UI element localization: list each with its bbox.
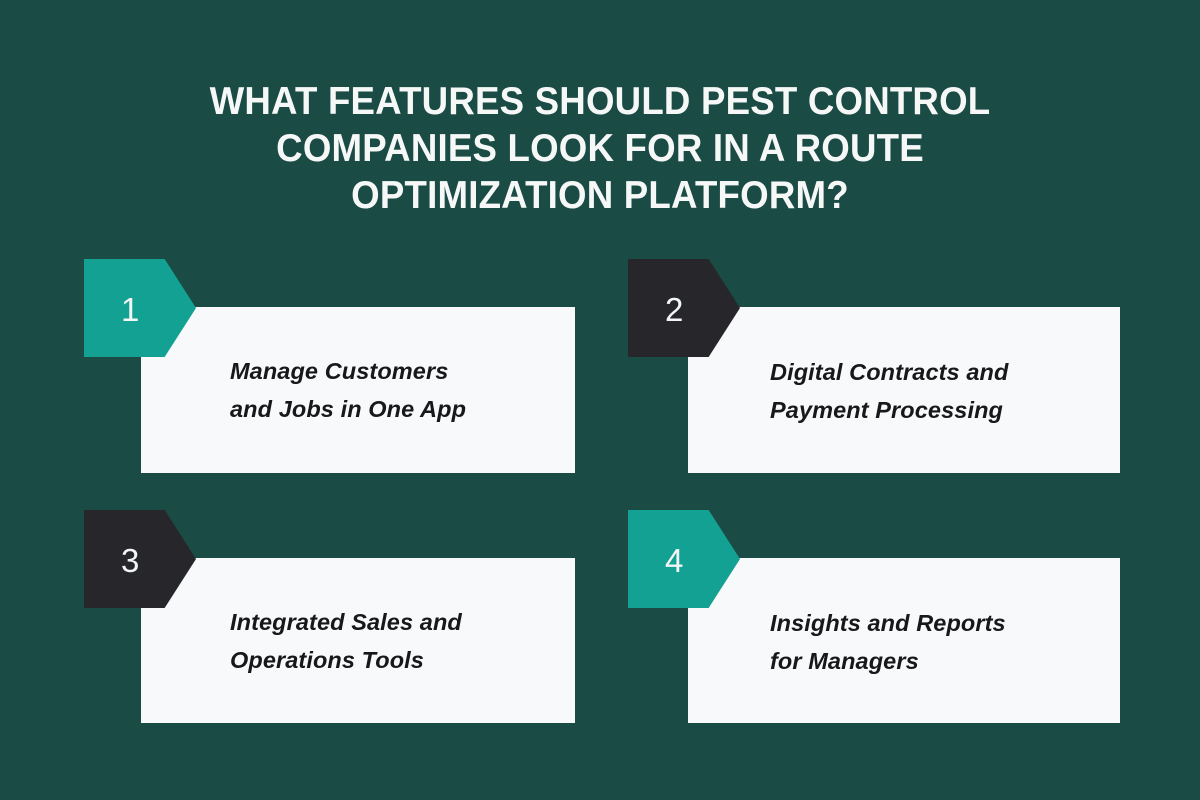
feature-card-1-number: 1 bbox=[121, 293, 139, 326]
feature-card-4-label: Insights and Reports for Managers bbox=[770, 604, 1006, 680]
page-title: WHAT FEATURES SHOULD PEST CONTROL COMPAN… bbox=[100, 78, 1100, 219]
feature-card-4-number: 4 bbox=[665, 544, 683, 577]
title-line-1: WHAT FEATURES SHOULD PEST CONTROL bbox=[130, 78, 1070, 125]
title-line-2: COMPANIES LOOK FOR IN A ROUTE bbox=[130, 125, 1070, 172]
title-line-3: OPTIMIZATION PLATFORM? bbox=[130, 172, 1070, 219]
feature-card-1-label: Manage Customers and Jobs in One App bbox=[230, 352, 466, 428]
feature-card-3-label: Integrated Sales and Operations Tools bbox=[230, 603, 462, 679]
feature-card-3-number: 3 bbox=[121, 544, 139, 577]
feature-card-2-number: 2 bbox=[665, 293, 683, 326]
infographic-poster: WHAT FEATURES SHOULD PEST CONTROL COMPAN… bbox=[0, 0, 1200, 800]
feature-card-2-label: Digital Contracts and Payment Processing bbox=[770, 353, 1008, 429]
